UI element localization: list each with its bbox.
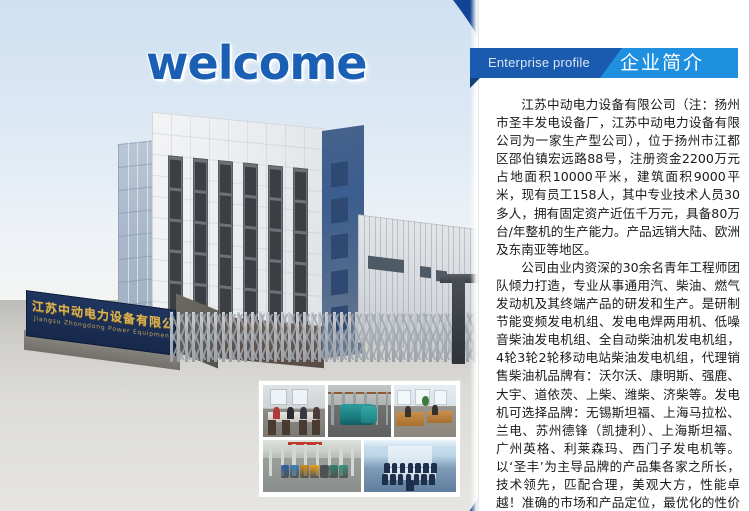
gate-pillar [452, 278, 465, 364]
welcome-heading: welcome [146, 36, 366, 90]
photo-generator-workshop[interactable] [328, 385, 390, 437]
profile-text-panel: Enterprise profile 企业简介 江苏中动电力设备有限公司（注：扬… [478, 0, 750, 511]
section-banner: Enterprise profile 企业简介 [470, 48, 738, 78]
retractable-gate-fence [170, 312, 480, 364]
collage-row-bottom [263, 440, 456, 492]
banner-english-label: Enterprise profile [488, 48, 590, 78]
photo-generator-warehouse[interactable] [263, 440, 361, 492]
photo-collage [259, 381, 460, 497]
banner-chinese-label: 企业简介 [620, 48, 704, 78]
profile-paragraph-2: 公司由业内资深的30余名青年工程师团队倾力打造，专业从事通用汽、柴油、燃气发动机… [496, 259, 740, 511]
company-profile-page: 江苏中动电力设备有限公司 Jiangsu Zhongdong Power Equ… [0, 0, 750, 511]
photo-office-meeting[interactable] [263, 385, 325, 437]
banner-background: Enterprise profile 企业简介 [470, 48, 738, 78]
hero-image-panel: 江苏中动电力设备有限公司 Jiangsu Zhongdong Power Equ… [0, 0, 480, 511]
photo-office-interior[interactable] [394, 385, 456, 437]
profile-paragraph-1: 江苏中动电力设备有限公司（注：扬州市圣丰发电设备厂，江苏中动电力设备有限公司为一… [496, 96, 740, 259]
collage-row-top [263, 385, 456, 437]
profile-body-text: 江苏中动电力设备有限公司（注：扬州市圣丰发电设备厂，江苏中动电力设备有限公司为一… [496, 96, 740, 511]
banner-corner-tab [470, 78, 480, 88]
photo-conference-room[interactable] [364, 440, 456, 492]
